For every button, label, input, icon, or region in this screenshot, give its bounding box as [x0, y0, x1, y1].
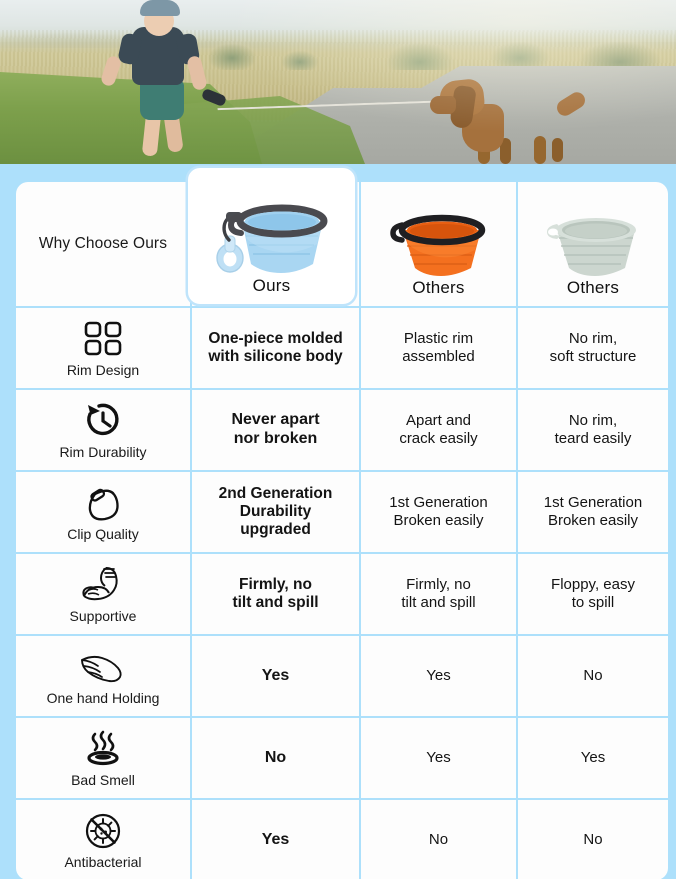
cell-other2: Floppy, easyto spill	[518, 554, 668, 634]
cell-other1: 1st GenerationBroken easily	[361, 472, 516, 552]
cell-value: 1st GenerationBroken easily	[367, 494, 510, 529]
cell-ours: One-piece moldedwith silicone body	[192, 308, 359, 388]
gray-collapsible-bowl	[541, 212, 645, 278]
dog-leg-back-left	[534, 136, 546, 164]
cell-value: No	[524, 831, 662, 849]
row-label: Supportive	[70, 608, 137, 624]
cell-value: Firmly, notilt and spill	[367, 576, 510, 611]
row-label: One hand Holding	[47, 690, 160, 706]
header-other2-cell: Others	[518, 182, 668, 306]
row-label-cell: Rim Design	[16, 308, 190, 388]
cell-ours: 2nd GenerationDurabilityupgraded	[192, 472, 359, 552]
row-label: Antibacterial	[64, 854, 141, 870]
row-label: Rim Design	[67, 362, 139, 378]
row-label-cell: Bad Smell	[16, 718, 190, 798]
dog-leg-back-right	[552, 138, 563, 162]
table-row: Antibacterial Yes No No	[16, 800, 668, 879]
cell-ours: Yes	[192, 800, 359, 879]
orange-collapsible-bowl	[387, 212, 491, 278]
cell-value: Yes	[367, 667, 510, 685]
open-palm-icon	[78, 647, 128, 687]
cell-value: Apart andcrack easily	[367, 412, 510, 447]
table-row: Clip Quality 2nd GenerationDurabilityupg…	[16, 472, 668, 552]
cell-value: One-piece moldedwith silicone body	[198, 330, 353, 367]
cell-other1: Yes	[361, 718, 516, 798]
boy-cap	[140, 0, 180, 16]
table-row: Supportive Firmly, notilt and spill Firm…	[16, 554, 668, 634]
cell-other2: No	[518, 800, 668, 879]
ours-label: Ours	[253, 276, 291, 296]
cell-ours: Firmly, notilt and spill	[192, 554, 359, 634]
cell-other1: Yes	[361, 636, 516, 716]
ours-product-card: Ours	[188, 168, 355, 304]
cell-value: Never apartnor broken	[198, 411, 353, 449]
cell-value: Plastic rimassembled	[367, 330, 510, 365]
row-label-cell: Supportive	[16, 554, 190, 634]
cell-value: No rim,teard easily	[524, 412, 662, 447]
cell-value: 1st GenerationBroken easily	[524, 494, 662, 529]
cell-value: No	[367, 831, 510, 849]
blue-collapsible-bowl-with-clip	[213, 202, 331, 276]
other2-label: Others	[567, 278, 619, 298]
dog-snout	[430, 96, 456, 114]
boy-shorts	[140, 80, 184, 120]
cell-other1: Apart andcrack easily	[361, 390, 516, 470]
cell-other2: No rim,soft structure	[518, 308, 668, 388]
cell-value: Yes	[524, 749, 662, 767]
other2-product: Others	[518, 182, 668, 306]
cell-other2: 1st GenerationBroken easily	[518, 472, 668, 552]
row-label-cell: Rim Durability	[16, 390, 190, 470]
header-title-cell: Why Choose Ours	[16, 182, 190, 306]
no-germ-icon	[82, 811, 124, 851]
page-title: Why Choose Ours	[16, 235, 190, 253]
row-label: Rim Durability	[59, 444, 146, 460]
row-label-cell: One hand Holding	[16, 636, 190, 716]
table-row: One hand Holding Yes Yes No	[16, 636, 668, 716]
grid-squares-icon	[83, 319, 123, 359]
other1-label: Others	[412, 278, 464, 298]
cell-ours: Yes	[192, 636, 359, 716]
row-label: Clip Quality	[67, 526, 139, 542]
cell-value: No	[198, 749, 353, 768]
cell-value: Floppy, easyto spill	[524, 576, 662, 611]
table-row: Rim Durability Never apartnor broken Apa…	[16, 390, 668, 470]
cell-value: Yes	[367, 749, 510, 767]
flexed-bicep-icon	[80, 565, 126, 605]
cell-value: Yes	[198, 831, 353, 850]
hero-photo	[0, 0, 676, 164]
carabiner-icon	[83, 483, 123, 523]
cell-value: Firmly, notilt and spill	[198, 576, 353, 613]
cell-other2: Yes	[518, 718, 668, 798]
cell-ours: No	[192, 718, 359, 798]
infographic-page: Ours Why Choose Ours	[0, 0, 676, 879]
row-label: Bad Smell	[71, 772, 135, 788]
row-label-cell: Antibacterial	[16, 800, 190, 879]
cell-value: 2nd GenerationDurabilityupgraded	[198, 485, 353, 540]
cell-other2: No	[518, 636, 668, 716]
cell-other1: No	[361, 800, 516, 879]
cell-value: Yes	[198, 667, 353, 686]
row-label-cell: Clip Quality	[16, 472, 190, 552]
other1-product: Others	[361, 182, 516, 306]
header-other1-cell: Others	[361, 182, 516, 306]
cell-other2: No rim,teard easily	[518, 390, 668, 470]
table-row: Rim Design One-piece moldedwith silicone…	[16, 308, 668, 388]
cell-ours: Never apartnor broken	[192, 390, 359, 470]
cell-value: No	[524, 667, 662, 685]
steam-waves-icon	[83, 729, 123, 769]
treeline	[0, 18, 676, 70]
cell-other1: Plastic rimassembled	[361, 308, 516, 388]
clock-rotate-icon	[82, 401, 124, 441]
table-row: Bad Smell No Yes Yes	[16, 718, 668, 798]
cell-other1: Firmly, notilt and spill	[361, 554, 516, 634]
cell-value: No rim,soft structure	[524, 330, 662, 365]
